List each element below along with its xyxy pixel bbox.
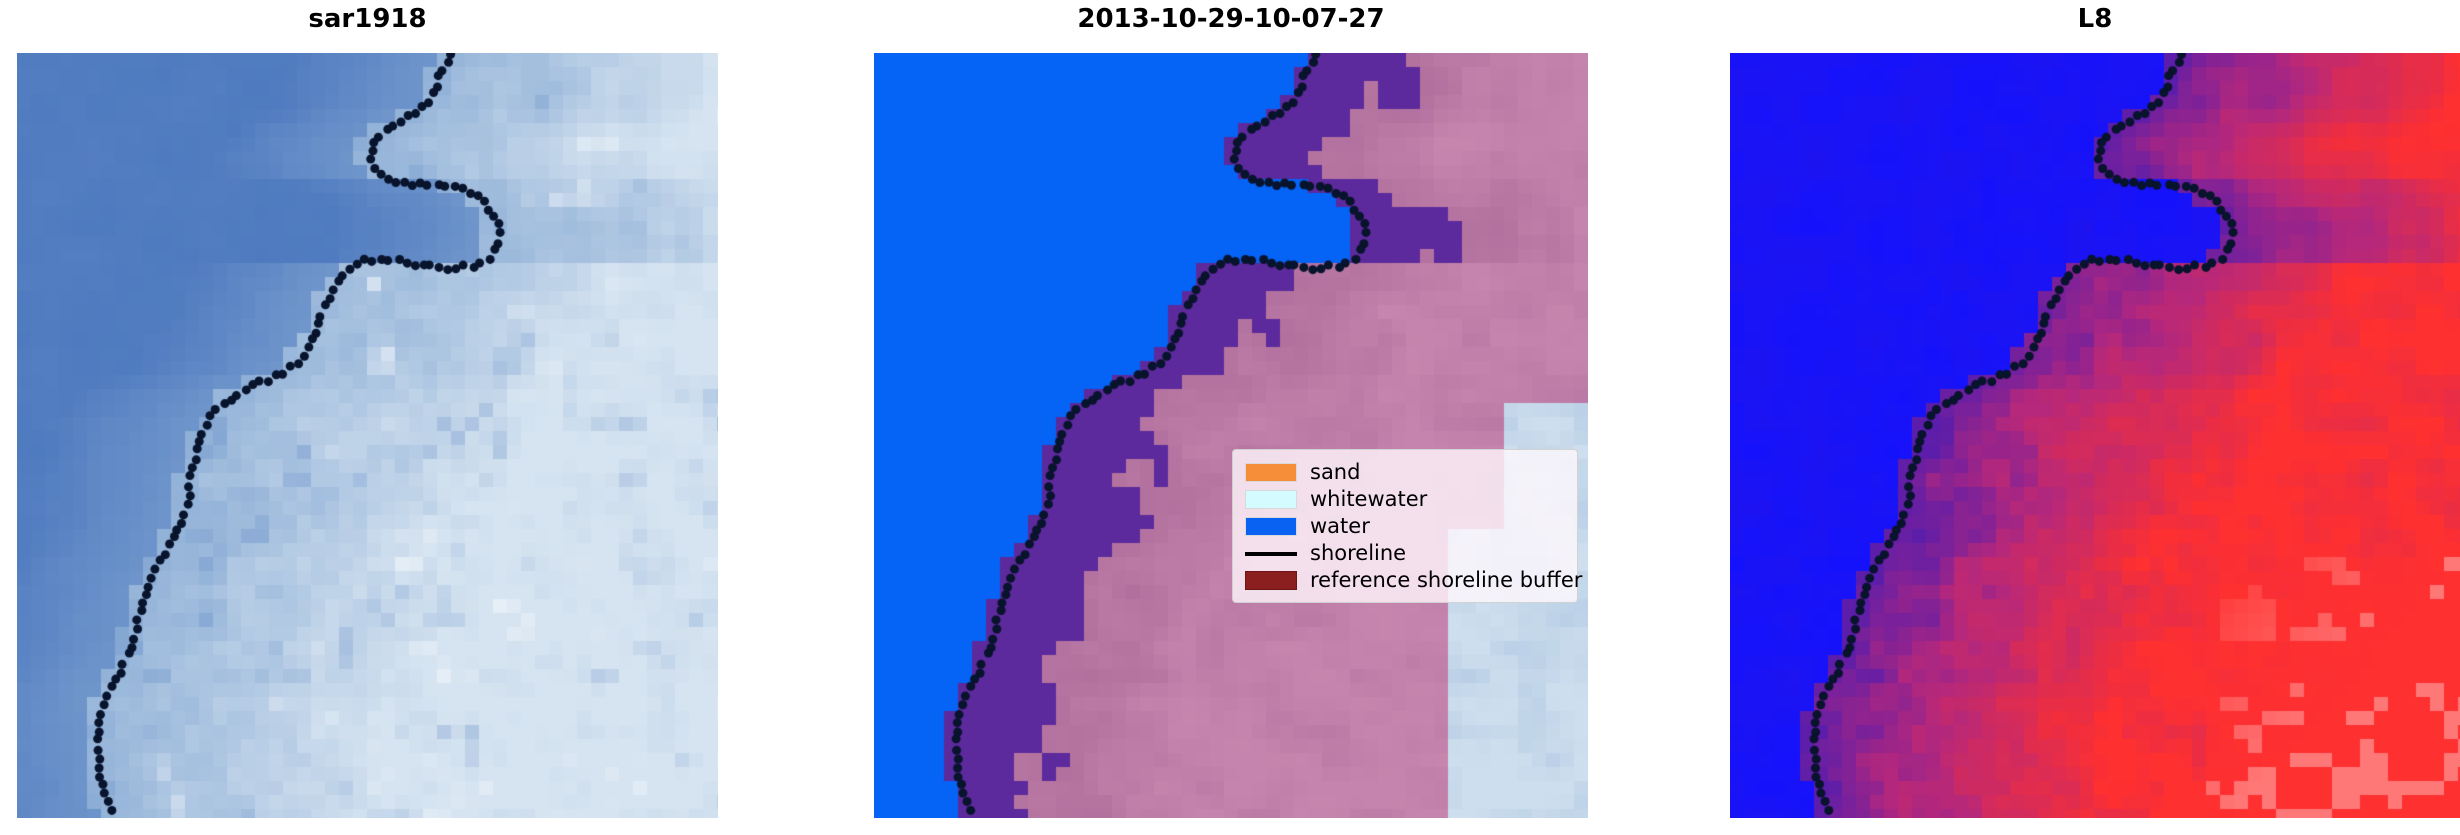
legend-label-whitewater: whitewater <box>1310 486 1427 513</box>
panel-title-sar1918: sar1918 <box>17 4 718 34</box>
legend-item-reference-shoreline-buffer: reference shoreline buffer <box>1245 567 1567 594</box>
legend-item-water: water <box>1245 513 1567 540</box>
legend[interactable]: sand whitewater water shoreline referenc… <box>1232 449 1578 603</box>
panel-classified[interactable] <box>874 53 1588 818</box>
panel-l8[interactable] <box>1730 53 2460 818</box>
shoreline-line-icon <box>1245 552 1297 556</box>
reference-shoreline-buffer-swatch-icon <box>1245 571 1297 590</box>
legend-label-sand: sand <box>1310 459 1360 486</box>
legend-label-shoreline: shoreline <box>1310 540 1406 567</box>
panel-sar1918[interactable] <box>17 53 718 818</box>
legend-item-whitewater: whitewater <box>1245 486 1567 513</box>
sand-swatch-icon <box>1245 463 1297 482</box>
whitewater-swatch-icon <box>1245 490 1297 509</box>
water-swatch-icon <box>1245 517 1297 536</box>
legend-item-shoreline: shoreline <box>1245 540 1567 567</box>
panel-title-l8: L8 <box>1730 4 2460 34</box>
sar1918-image <box>17 53 718 818</box>
panel-title-classified: 2013-10-29-10-07-27 <box>874 4 1588 34</box>
l8-false-color-image <box>1730 53 2460 818</box>
legend-label-water: water <box>1310 513 1370 540</box>
figure-canvas: sar1918 2013-10-29-10-07-27 L8 sand whit… <box>0 0 2460 835</box>
legend-item-sand: sand <box>1245 459 1567 486</box>
legend-label-reference-shoreline-buffer: reference shoreline buffer <box>1310 567 1582 594</box>
classified-overlay-image <box>874 53 1588 818</box>
